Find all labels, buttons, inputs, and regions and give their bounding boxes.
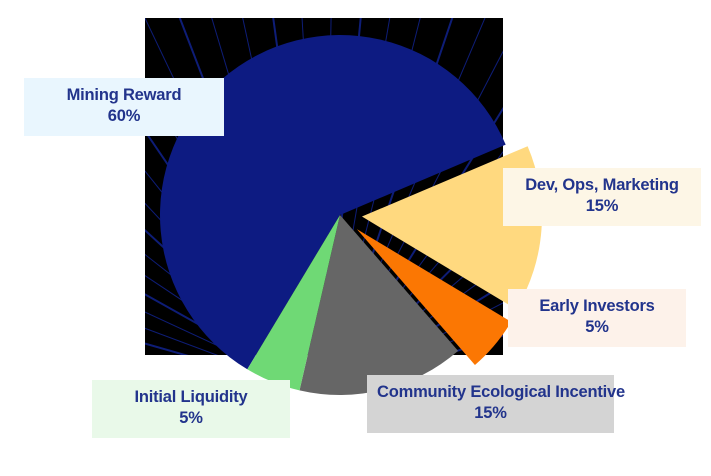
pie-label-mining-reward: Mining Reward 60% <box>24 78 224 136</box>
pie-label-community-ecological-incentive: Community Ecological Incentive 15% <box>367 375 614 433</box>
pie-label-initial-liquidity: Initial Liquidity 5% <box>92 380 290 438</box>
pie-label-percent: 5% <box>102 408 280 429</box>
pie-label-percent: 5% <box>518 317 676 338</box>
pie-label-name: Early Investors <box>518 296 676 317</box>
pie-label-name: Mining Reward <box>34 85 214 106</box>
pie-label-name: Dev, Ops, Marketing <box>513 175 691 196</box>
pie-label-name: Community Ecological Incentive <box>377 382 604 403</box>
chart-canvas: Mining Reward 60% Dev, Ops, Marketing 15… <box>0 0 711 471</box>
pie-label-name: Initial Liquidity <box>102 387 280 408</box>
pie-label-percent: 15% <box>513 196 691 217</box>
pie-label-percent: 15% <box>377 403 604 424</box>
pie-label-early-investors: Early Investors 5% <box>508 289 686 347</box>
pie-label-percent: 60% <box>34 106 214 127</box>
pie-label-dev-ops-marketing: Dev, Ops, Marketing 15% <box>503 168 701 226</box>
